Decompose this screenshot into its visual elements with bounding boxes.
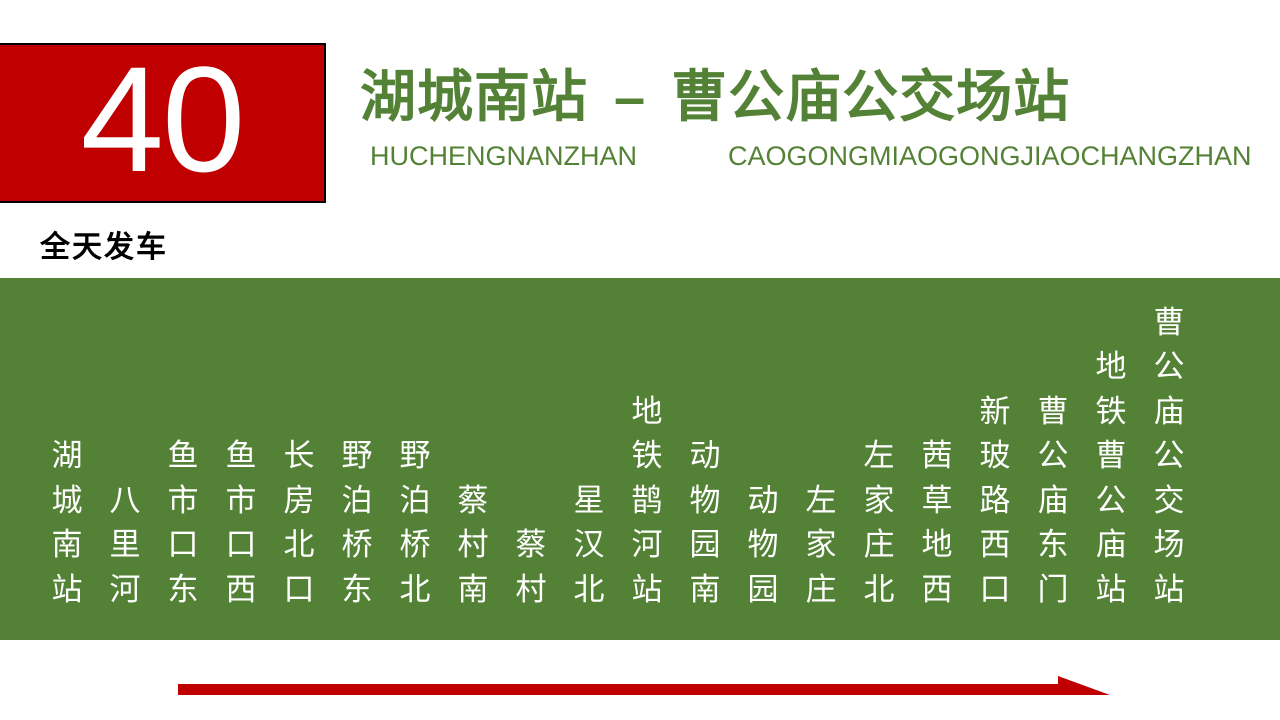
station-name-char: 路	[980, 479, 1011, 524]
station-name-char: 野	[342, 434, 373, 479]
station-name-char: 蔡	[458, 479, 489, 524]
station-item: 左家庄	[792, 479, 850, 613]
station-name-char: 曹	[1154, 301, 1185, 346]
station-name-char: 动	[748, 479, 779, 524]
station-name-char: 口	[168, 523, 199, 568]
station-item: 动物园南	[676, 434, 734, 612]
station-name-char: 市	[168, 479, 199, 524]
station-name-char: 家	[806, 523, 837, 568]
station-name-char: 北	[864, 568, 895, 613]
station-name-char: 北	[574, 568, 605, 613]
station-name-char: 曹	[1096, 434, 1127, 479]
station-name-char: 草	[922, 479, 953, 524]
station-name-char: 东	[1038, 523, 1069, 568]
station-name-char: 汉	[574, 523, 605, 568]
station-name-char: 庄	[864, 523, 895, 568]
station-name-char: 南	[690, 568, 721, 613]
route-number-badge: 40	[0, 43, 326, 203]
station-name-char: 河	[632, 523, 663, 568]
station-name-char: 房	[284, 479, 315, 524]
station-item: 地铁鹊河站	[618, 390, 676, 613]
station-name-char: 新	[980, 390, 1011, 435]
route-title-block: 湖城南站 – 曹公庙公交场站 HUCHENGNANZHAN CAOGONGMIA…	[360, 62, 1260, 202]
route-pinyin-line: HUCHENGNANZHAN CAOGONGMIAOGONGJIAOCHANGZ…	[360, 141, 1260, 173]
direction-arrow-icon	[178, 676, 1110, 702]
route-title-line: 湖城南站 – 曹公庙公交场站	[360, 62, 1260, 133]
station-name-char: 站	[52, 568, 83, 613]
station-name-char: 鱼	[226, 434, 257, 479]
station-name-char: 泊	[342, 479, 373, 524]
station-name-char: 口	[284, 568, 315, 613]
station-name-char: 东	[342, 568, 373, 613]
station-item: 蔡村	[502, 523, 560, 612]
station-name-char: 鹊	[632, 479, 663, 524]
station-name-char: 园	[748, 568, 779, 613]
station-name-char: 站	[1154, 568, 1185, 613]
station-item: 曹公庙公交场站	[1140, 301, 1198, 613]
station-name-char: 市	[226, 479, 257, 524]
station-name-char: 玻	[980, 434, 1011, 479]
station-item: 野泊桥东	[328, 434, 386, 612]
destination-station-title: 曹公庙公交场站	[671, 63, 1070, 133]
station-item: 湖城南站	[38, 434, 96, 612]
station-item: 蔡村南	[444, 479, 502, 613]
station-item: 新玻路西口	[966, 390, 1024, 613]
destination-station-pinyin: CAOGONGMIAOGONGJIAOCHANGZHAN	[728, 141, 1252, 172]
route-header: 40 全天发车 湖城南站 – 曹公庙公交场站 HUCHENGNANZHAN CA…	[0, 0, 1280, 278]
station-name-char: 公	[1096, 479, 1127, 524]
station-name-char: 长	[284, 434, 315, 479]
station-name-char: 茜	[922, 434, 953, 479]
station-name-char: 桥	[400, 523, 431, 568]
station-name-char: 铁	[1096, 390, 1127, 435]
station-name-char: 村	[458, 523, 489, 568]
station-item: 地铁曹公庙站	[1082, 345, 1140, 612]
station-item: 动物园	[734, 479, 792, 613]
station-name-char: 左	[864, 434, 895, 479]
station-item: 鱼市口西	[212, 434, 270, 612]
station-item: 星汉北	[560, 479, 618, 613]
station-name-char: 站	[632, 568, 663, 613]
station-name-char: 交	[1154, 479, 1185, 524]
station-name-char: 铁	[632, 434, 663, 479]
station-name-char: 庙	[1038, 479, 1069, 524]
station-name-char: 城	[52, 479, 83, 524]
station-item: 曹公庙东门	[1024, 390, 1082, 613]
station-name-char: 星	[574, 479, 605, 524]
station-name-char: 湖	[52, 434, 83, 479]
station-name-char: 南	[458, 568, 489, 613]
station-name-char: 西	[226, 568, 257, 613]
station-item: 茜草地西	[908, 434, 966, 612]
station-name-char: 公	[1038, 434, 1069, 479]
station-name-char: 泊	[400, 479, 431, 524]
station-name-char: 园	[690, 523, 721, 568]
origin-station-title: 湖城南站	[360, 63, 588, 133]
station-name-char: 北	[400, 568, 431, 613]
station-name-char: 庄	[806, 568, 837, 613]
station-name-char: 东	[168, 568, 199, 613]
station-name-char: 西	[922, 568, 953, 613]
station-name-char: 家	[864, 479, 895, 524]
station-name-char: 站	[1096, 568, 1127, 613]
station-name-char: 地	[922, 523, 953, 568]
station-name-char: 场	[1154, 523, 1185, 568]
title-separator-dash: –	[588, 62, 671, 132]
station-name-char: 鱼	[168, 434, 199, 479]
station-name-char: 里	[110, 523, 141, 568]
service-note-label: 全天发车	[40, 222, 168, 266]
route-number-label: 40	[81, 44, 244, 194]
station-name-char: 物	[690, 479, 721, 524]
station-name-char: 庙	[1154, 390, 1185, 435]
station-name-char: 村	[516, 568, 547, 613]
station-name-char: 地	[1096, 345, 1127, 390]
origin-station-pinyin: HUCHENGNANZHAN	[370, 141, 637, 172]
station-name-char: 曹	[1038, 390, 1069, 435]
station-name-char: 地	[632, 390, 663, 435]
station-name-char: 左	[806, 479, 837, 524]
station-item: 长房北口	[270, 434, 328, 612]
station-sequence-panel: 湖城南站八里河鱼市口东鱼市口西长房北口野泊桥东野泊桥北蔡村南蔡村星汉北地铁鹊河站…	[0, 278, 1280, 640]
station-name-char: 桥	[342, 523, 373, 568]
station-name-char: 庙	[1096, 523, 1127, 568]
station-name-char: 公	[1154, 434, 1185, 479]
station-name-char: 口	[980, 568, 1011, 613]
station-item: 八里河	[96, 479, 154, 613]
station-name-char: 野	[400, 434, 431, 479]
station-name-char: 南	[52, 523, 83, 568]
station-name-char: 公	[1154, 345, 1185, 390]
station-name-char: 河	[110, 568, 141, 613]
station-name-char: 蔡	[516, 523, 547, 568]
station-item: 野泊桥北	[386, 434, 444, 612]
station-name-char: 物	[748, 523, 779, 568]
station-item: 鱼市口东	[154, 434, 212, 612]
station-name-char: 动	[690, 434, 721, 479]
station-item: 左家庄北	[850, 434, 908, 612]
station-name-char: 北	[284, 523, 315, 568]
station-name-char: 口	[226, 523, 257, 568]
station-name-char: 门	[1038, 568, 1069, 613]
station-name-char: 西	[980, 523, 1011, 568]
station-name-char: 八	[110, 479, 141, 524]
station-list: 湖城南站八里河鱼市口东鱼市口西长房北口野泊桥东野泊桥北蔡村南蔡村星汉北地铁鹊河站…	[38, 312, 1248, 612]
